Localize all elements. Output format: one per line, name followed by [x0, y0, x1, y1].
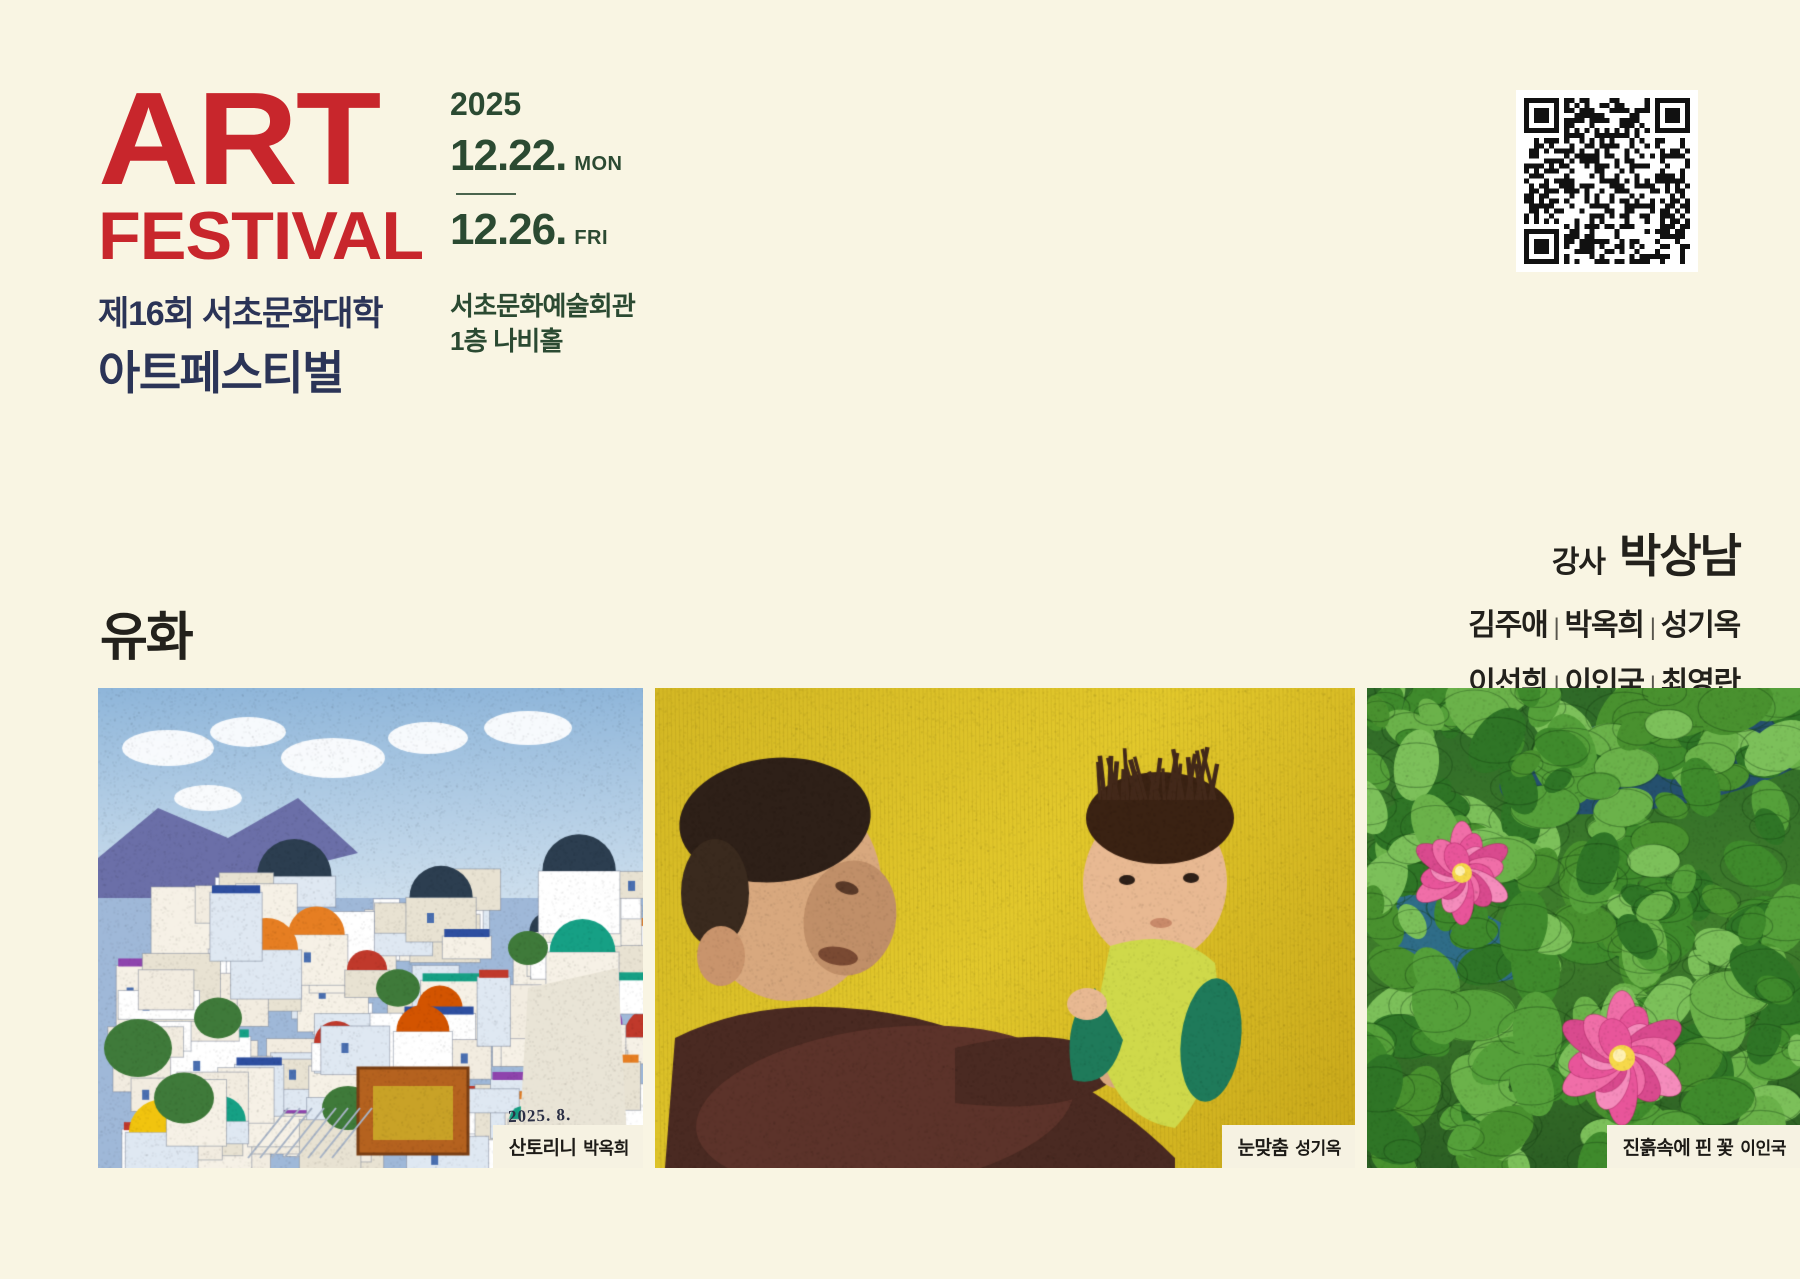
artwork-artist: 박옥희 — [583, 1134, 629, 1159]
schedule-start-row: 12.22. MON — [450, 131, 635, 181]
artwork-caption: 진흙속에 핀 꽃 이인국 — [1607, 1125, 1800, 1168]
artwork-artist: 성기옥 — [1295, 1134, 1341, 1159]
artwork-caption: 산토리니 박옥희 — [493, 1125, 643, 1168]
artwork-item[interactable]: 2025. 8. 산토리니 박옥희 — [98, 688, 643, 1168]
schedule-divider — [456, 193, 516, 195]
schedule-end-row: 12.26. FRI — [450, 205, 635, 255]
venue-line-1: 서초문화예술회관 — [450, 289, 635, 324]
artwork-caption: 눈맞춤 성기옥 — [1222, 1125, 1355, 1168]
participant-separator: | — [1548, 614, 1565, 641]
poster-root: ART FESTIVAL 제16회 서초문화대학 아트페스티벌 2025 12.… — [0, 0, 1800, 1279]
participant-name: 박옥희 — [1565, 609, 1644, 642]
artwork-image-lotus — [1367, 688, 1800, 1168]
participants-row-1: 김주애|박옥희|성기옥 — [1468, 600, 1740, 644]
artwork-title: 눈맞춤 — [1238, 1133, 1289, 1160]
artwork-strip: 2025. 8. 산토리니 박옥희 눈맞춤 성기옥 진흙속에 핀 꽃 이인국 — [0, 688, 1800, 1168]
schedule-start-day: MON — [574, 153, 622, 176]
artwork-artist: 이인국 — [1740, 1134, 1786, 1159]
artwork-signature: 2025. 8. — [507, 1105, 571, 1127]
schedule-year: 2025 — [450, 86, 635, 123]
artwork-image-eye-contact — [655, 688, 1355, 1168]
instructor-name: 박상남 — [1619, 520, 1740, 586]
category-heading: 유화 — [100, 595, 192, 670]
artwork-image-santorini — [98, 688, 643, 1168]
artwork-title: 산토리니 — [509, 1133, 577, 1160]
participant-name: 김주애 — [1468, 609, 1547, 642]
qr-code-icon[interactable] — [1516, 90, 1698, 272]
instructor-label: 강사 — [1552, 537, 1605, 581]
artwork-item[interactable]: 진흙속에 핀 꽃 이인국 — [1367, 688, 1800, 1168]
schedule-start-date: 12.22. — [450, 131, 566, 181]
participant-separator: | — [1644, 614, 1661, 641]
artwork-title: 진흙속에 핀 꽃 — [1623, 1133, 1734, 1160]
schedule-end-day: FRI — [574, 227, 608, 250]
instructor-block: 강사 박상남 김주애|박옥희|성기옥 이선희|이인국|최영란 — [1468, 520, 1740, 702]
artwork-item[interactable]: 눈맞춤 성기옥 — [655, 688, 1355, 1168]
instructor-row: 강사 박상남 — [1468, 520, 1740, 586]
venue-block: 서초문화예술회관 1층 나비홀 — [450, 289, 635, 359]
schedule-end-date: 12.26. — [450, 205, 566, 255]
schedule-block: 2025 12.22. MON 12.26. FRI 서초문화예술회관 1층 나… — [450, 86, 635, 359]
venue-line-2: 1층 나비홀 — [450, 324, 635, 359]
participant-name: 성기옥 — [1661, 609, 1740, 642]
